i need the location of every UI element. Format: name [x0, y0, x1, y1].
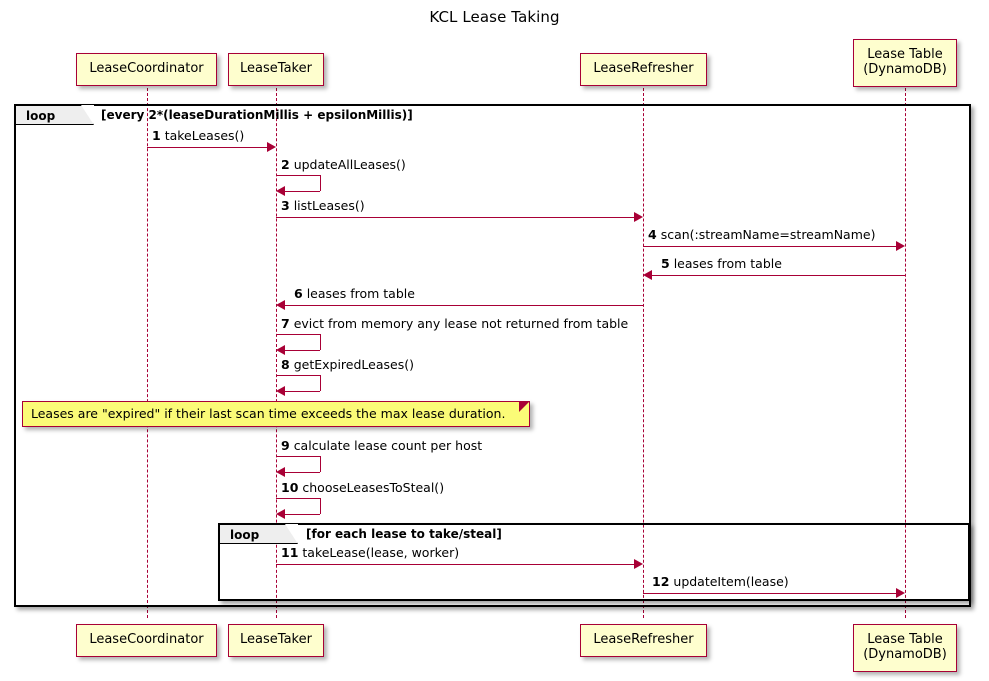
message-5-label: 5 leases from table — [661, 256, 782, 271]
message-12-number: 12 — [652, 574, 669, 589]
message-8-self-right — [320, 375, 321, 391]
message-7-number: 7 — [281, 316, 290, 331]
participant-leaserefresher-bottom[interactable]: LeaseRefresher — [580, 624, 707, 657]
message-8-text: getExpiredLeases() — [294, 357, 414, 372]
message-8-arrowhead — [276, 386, 285, 396]
message-7-arrowhead — [276, 345, 285, 355]
message-10-label: 10 chooseLeasesToSteal() — [281, 480, 444, 495]
message-7-self-top — [276, 334, 320, 335]
message-11-label: 11 takeLease(lease, worker) — [281, 545, 459, 560]
message-11-number: 11 — [281, 545, 298, 560]
participant-leasetable-bottom-line2: (DynamoDB) — [863, 648, 947, 663]
message-7-self-right — [320, 334, 321, 350]
message-10-self-right — [320, 498, 321, 514]
message-3-arrowhead — [634, 212, 643, 222]
message-1-text: takeLeases() — [165, 128, 245, 143]
message-9-number: 9 — [281, 438, 290, 453]
message-10-number: 10 — [281, 480, 298, 495]
sequence-diagram-canvas: KCL Lease Taking loop [every 2*(leaseDur… — [0, 0, 989, 681]
participant-leasetable-bottom-line1: Lease Table — [867, 633, 943, 648]
message-1-arrowhead — [267, 142, 276, 152]
message-2-self-right — [320, 175, 321, 191]
loop-frame-inner-condition: [for each lease to take/steal] — [306, 527, 502, 541]
message-8-self-bottom — [285, 391, 320, 392]
message-6-number: 6 — [294, 286, 303, 301]
participant-leasecoordinator-bottom[interactable]: LeaseCoordinator — [76, 624, 217, 657]
message-9-label: 9 calculate lease count per host — [281, 438, 482, 453]
message-5-line — [652, 275, 905, 276]
message-9-self-bottom — [285, 472, 320, 473]
message-9-text: calculate lease count per host — [294, 438, 482, 453]
message-4-text: scan(:streamName=streamName) — [661, 227, 876, 242]
message-8-number: 8 — [281, 357, 290, 372]
participant-leasetable-top-line2: (DynamoDB) — [863, 63, 947, 78]
participant-leaserefresher-top[interactable]: LeaseRefresher — [580, 53, 707, 86]
note-expired-leases: Leases are "expired" if their last scan … — [22, 401, 530, 427]
message-10-text: chooseLeasesToSteal() — [302, 480, 444, 495]
message-2-label: 2 updateAllLeases() — [281, 157, 406, 172]
message-4-line — [643, 246, 896, 247]
message-4-label: 4 scan(:streamName=streamName) — [648, 227, 875, 242]
message-9-self-top — [276, 456, 320, 457]
message-5-arrowhead — [643, 270, 652, 280]
message-12-line — [643, 593, 896, 594]
message-2-self-top — [276, 175, 320, 176]
message-7-text: evict from memory any lease not returned… — [294, 316, 629, 331]
loop-frame-outer-condition: [every 2*(leaseDurationMillis + epsilonM… — [101, 108, 413, 122]
message-6-label: 6 leases from table — [294, 286, 415, 301]
participant-leasetable-top[interactable]: Lease Table (DynamoDB) — [853, 39, 957, 87]
page-title: KCL Lease Taking — [0, 8, 989, 26]
message-2-self-bottom — [285, 191, 320, 192]
participant-leasetable-top-line1: Lease Table — [867, 48, 943, 63]
message-12-label: 12 updateItem(lease) — [652, 574, 789, 589]
participant-leasecoordinator-top[interactable]: LeaseCoordinator — [76, 53, 217, 86]
message-4-arrowhead — [896, 241, 905, 251]
message-12-text: updateItem(lease) — [673, 574, 788, 589]
message-11-arrowhead — [634, 559, 643, 569]
message-3-number: 3 — [281, 198, 290, 213]
message-1-line — [147, 147, 267, 148]
message-6-text: leases from table — [307, 286, 415, 301]
message-11-text: takeLease(lease, worker) — [302, 545, 459, 560]
message-1-label: 1 takeLeases() — [152, 128, 244, 143]
message-1-number: 1 — [152, 128, 161, 143]
message-11-line — [276, 564, 634, 565]
message-5-text: leases from table — [674, 256, 782, 271]
message-3-line — [276, 217, 634, 218]
note-fold-icon — [519, 401, 530, 412]
message-12-arrowhead — [896, 588, 905, 598]
message-3-text: listLeases() — [294, 198, 365, 213]
message-8-self-top — [276, 375, 320, 376]
message-3-label: 3 listLeases() — [281, 198, 365, 213]
loop-frame-outer-tab: loop — [16, 106, 94, 125]
message-7-label: 7 evict from memory any lease not return… — [281, 316, 628, 331]
message-2-number: 2 — [281, 157, 290, 172]
message-10-self-top — [276, 498, 320, 499]
message-4-number: 4 — [648, 227, 657, 242]
message-9-self-right — [320, 456, 321, 472]
participant-leasetable-bottom[interactable]: Lease Table (DynamoDB) — [853, 624, 957, 672]
message-6-line — [285, 305, 643, 306]
message-7-self-bottom — [285, 350, 320, 351]
message-5-number: 5 — [661, 256, 670, 271]
message-10-self-bottom — [285, 514, 320, 515]
message-9-arrowhead — [276, 467, 285, 477]
message-2-arrowhead — [276, 186, 285, 196]
message-2-text: updateAllLeases() — [294, 157, 406, 172]
message-10-arrowhead — [276, 509, 285, 519]
loop-frame-inner-tab: loop — [220, 525, 298, 544]
message-6-arrowhead — [276, 300, 285, 310]
message-8-label: 8 getExpiredLeases() — [281, 357, 414, 372]
participant-leasetaker-bottom[interactable]: LeaseTaker — [228, 624, 324, 657]
participant-leasetaker-top[interactable]: LeaseTaker — [228, 53, 324, 86]
